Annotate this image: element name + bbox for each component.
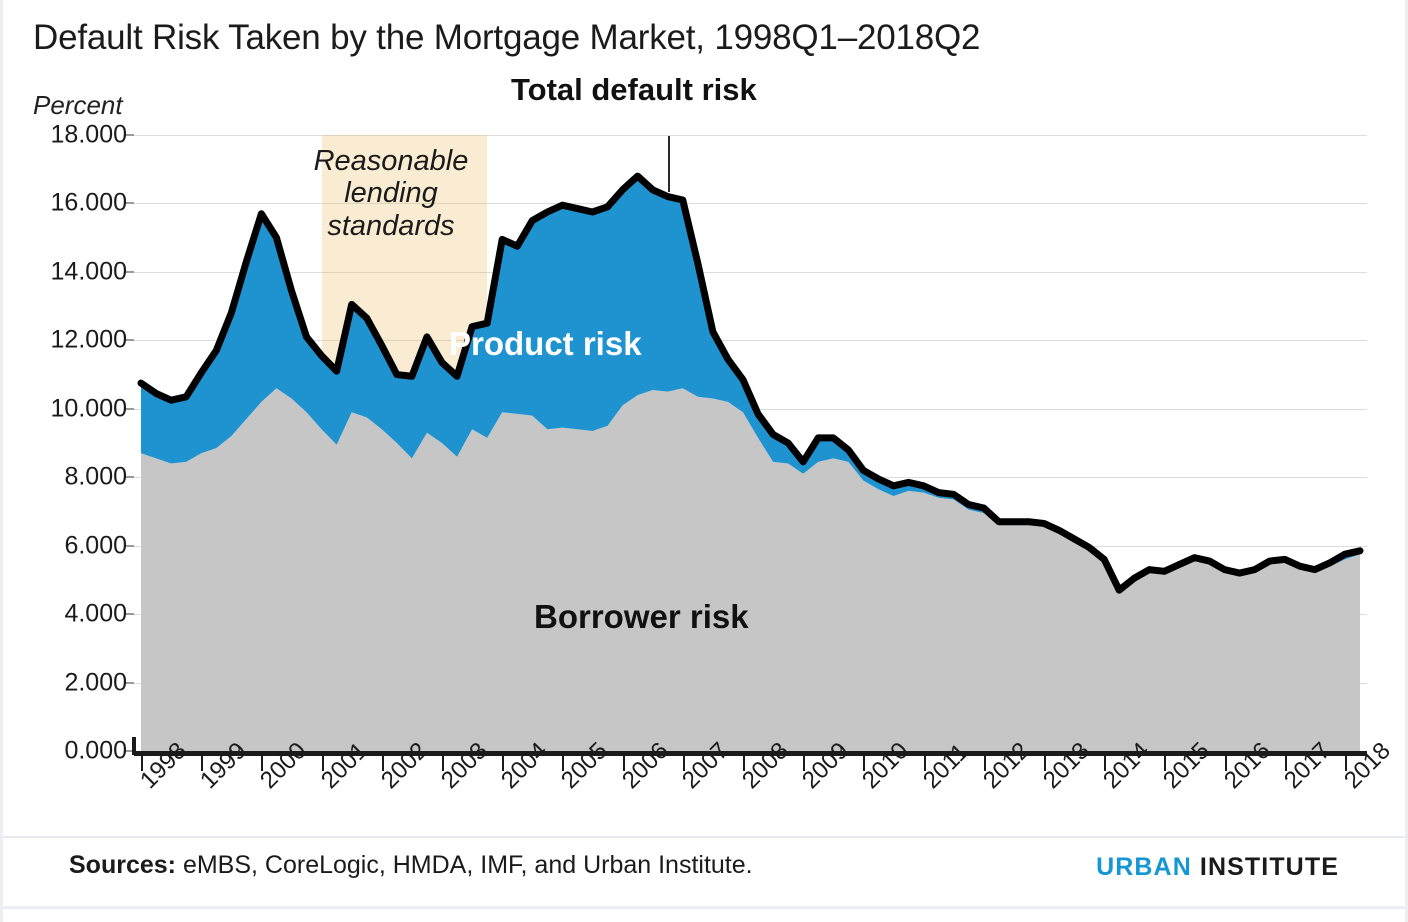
chart-figure: Default Risk Taken by the Mortgage Marke… [0, 0, 1408, 922]
band-label: Reasonable lending standards Reasonable … [291, 145, 491, 242]
y-axis-stub [132, 737, 136, 755]
y-axis-tick-label: 8.000 [64, 463, 127, 492]
y-axis-tick-label: 4.000 [64, 600, 127, 629]
y-axis-tick-label: 0.000 [64, 737, 127, 766]
sources-label: Sources: [69, 851, 176, 879]
band-label-text-2: lending [344, 177, 438, 209]
product-risk-label: Product risk [449, 325, 642, 363]
y-axis-tick-label: 6.000 [64, 531, 127, 560]
y-axis-tick-label: 12.000 [51, 326, 127, 355]
band-label-text-3: standards [327, 210, 454, 242]
footer-divider [3, 836, 1408, 838]
borrower-risk-label: Borrower risk [534, 598, 749, 636]
urban-institute-logo: URBAN INSTITUTE [1096, 853, 1339, 882]
brand-institute: INSTITUTE [1200, 853, 1339, 881]
borrower-risk-area [141, 388, 1360, 751]
sources-note: Sources: eMBS, CoreLogic, HMDA, IMF, and… [69, 851, 753, 880]
y-axis-tick-label: 16.000 [51, 189, 127, 218]
bottom-divider [3, 906, 1408, 909]
band-label-text-1: Reasonable [314, 145, 469, 177]
y-axis-title: Percent [33, 90, 123, 121]
sources-text: eMBS, CoreLogic, HMDA, IMF, and Urban In… [183, 851, 753, 879]
y-axis-tick-label: 14.000 [51, 257, 127, 286]
y-axis-tick-label: 10.000 [51, 394, 127, 423]
total-default-risk-callout: Total default risk [511, 72, 757, 108]
y-axis-tick-label: 18.000 [51, 121, 127, 150]
page-title: Default Risk Taken by the Mortgage Marke… [33, 18, 980, 58]
brand-urban: URBAN [1096, 853, 1192, 881]
y-axis-tick-label: 2.000 [64, 668, 127, 697]
